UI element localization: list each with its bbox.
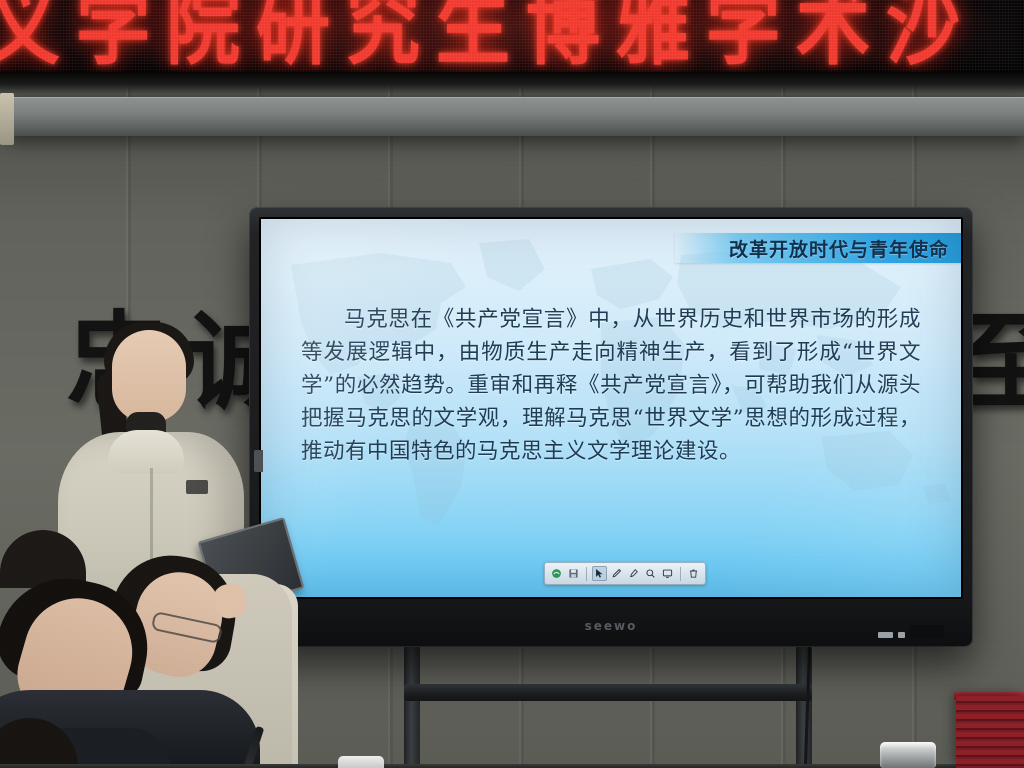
led-banner: 义学院研究生博雅学术沙 [0,0,1024,72]
annotation-toolbar[interactable] [544,562,706,585]
save-icon[interactable] [566,566,581,581]
cursor-arrow-icon[interactable] [592,566,607,581]
slide-title-banner: 改革开放时代与青年使命 [675,233,961,263]
screen-capture-icon[interactable] [660,566,675,581]
tv-cart-leg-left [404,646,420,768]
projector-screen-case-end [0,93,14,145]
tv-cart-crossbar [404,684,812,701]
toolbar-group-tools [592,566,675,581]
control-panel-block[interactable] [910,625,944,638]
presentation-slide[interactable]: 改革开放时代与青年使命 马克思在《共产党宣言》中，从世界历史和世界市场的形成等发… [261,219,961,597]
display-ports[interactable] [878,625,944,638]
ceiling-shadow [0,72,1024,94]
highlighter-icon[interactable] [626,566,641,581]
seewo-logo-icon[interactable] [549,566,564,581]
lecture-room-photo: 义学院研究生博雅学术沙 忠 诚 至 [0,0,1024,768]
trash-icon[interactable] [686,566,701,581]
interactive-flat-panel[interactable]: 改革开放时代与青年使命 马克思在《共产党宣言》中，从世界历史和世界市场的形成等发… [250,208,972,646]
projector-screen-case [8,97,1024,136]
toolbar-group-clear [686,566,701,581]
panel-side-notch [254,450,263,472]
pen-icon[interactable] [609,566,624,581]
usb-port[interactable] [878,632,893,638]
toolbar-divider-1 [586,567,587,581]
slide-body-text: 马克思在《共产党宣言》中，从世界历史和世界市场的形成等发展逻辑中，由物质生产走向… [301,303,921,468]
display-brand-label: seewo [566,619,656,633]
led-banner-text: 义学院研究生博雅学术沙 [0,0,976,69]
magnifier-icon[interactable] [643,566,658,581]
hdmi-port[interactable] [898,632,905,638]
toolbar-group-app [549,566,581,581]
toolbar-divider-2 [680,567,681,581]
